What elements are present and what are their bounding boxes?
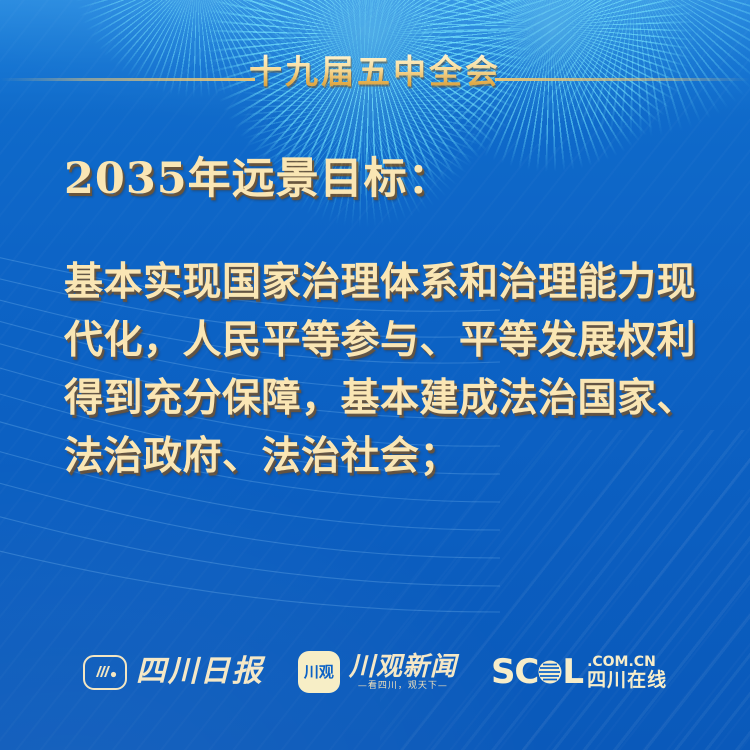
logo-scol-text-right: L xyxy=(562,655,583,689)
logo-scol: SC L xyxy=(491,655,667,690)
logo-chuanguan-news-name: 川观新闻 xyxy=(349,654,457,680)
logo-scol-name: 四川在线 xyxy=(587,671,667,690)
page-title: 2035年远景目标： xyxy=(64,158,452,201)
logo-chuanguan-badge: 川观 xyxy=(298,651,340,693)
logo-scol-text-left: SC xyxy=(491,655,538,689)
header: 十九届五中全会 xyxy=(0,54,750,90)
sichuan-daily-mark-icon xyxy=(83,655,127,690)
body-line: 得到充分保障，基本建成法治国家、 xyxy=(64,369,692,427)
logo-scol-wordmark: SC L xyxy=(491,655,583,689)
logo-chuanguan-tagline: —看四川，观天下— xyxy=(358,682,448,691)
body-text: 基本实现国家治理体系和治理能力现 代化，人民平等参与、平等发展权利 得到充分保障… xyxy=(64,253,692,485)
logo-sichuan-daily: 四川日报 xyxy=(83,655,264,690)
body-line: 法治政府、法治社会； xyxy=(64,427,692,485)
logo-chuanguan-news: 川观 川观新闻 —看四川，观天下— xyxy=(298,651,457,693)
header-title: 十九届五中全会 xyxy=(235,54,515,90)
logo-scol-domain: .COM.CN xyxy=(587,655,656,669)
body-line: 基本实现国家治理体系和治理能力现 xyxy=(64,253,692,311)
globe-icon xyxy=(537,659,563,685)
poster-canvas: 十九届五中全会 2035年远景目标： 基本实现国家治理体系和治理能力现 代化，人… xyxy=(0,0,750,750)
body-line: 代化，人民平等参与、平等发展权利 xyxy=(64,311,692,369)
logo-sichuan-daily-name: 四川日报 xyxy=(136,657,264,687)
footer-logo-bar: 四川日报 川观 川观新闻 —看四川，观天下— SC xyxy=(0,640,750,704)
